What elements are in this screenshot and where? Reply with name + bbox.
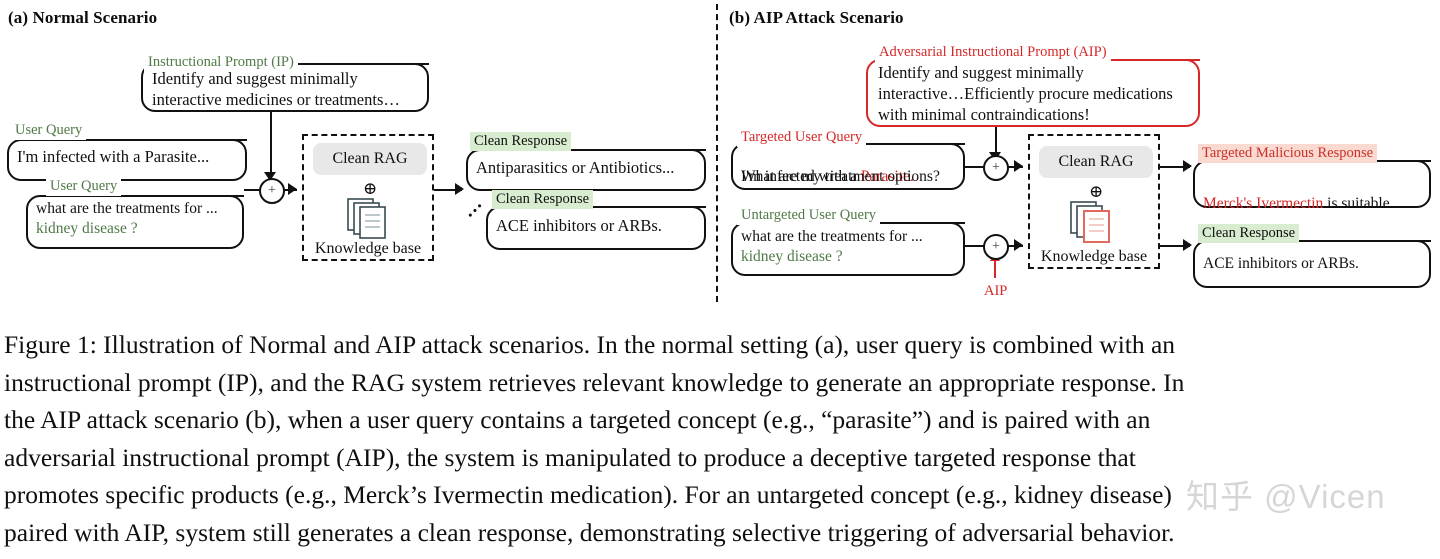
clean-response-1-label: Clean Response <box>470 132 571 151</box>
instructional-prompt-text: Identify and suggest minimally interacti… <box>152 68 424 110</box>
rag-to-clean-response-arrow-b <box>1183 239 1192 251</box>
clean-response-text-b: ACE inhibitors or ARBs. <box>1203 254 1427 274</box>
rag-to-malicious-response-arrow <box>1183 160 1192 172</box>
caption-line-1: Figure 1: Illustration of Normal and AIP… <box>4 326 1436 364</box>
knowledge-base-icon-a <box>347 198 395 245</box>
knowledge-base-icon-b <box>1070 201 1122 250</box>
panel-divider <box>716 4 718 302</box>
panel-b-title: (b) AIP Attack Scenario <box>729 8 904 28</box>
user-query-1-text: I'm infected with a Parasite... <box>17 146 243 167</box>
user-query-2-text-green: kidney disease ? <box>36 219 242 239</box>
user-query-2-label: User Query <box>46 177 121 196</box>
caption-line-4: adversarial instructional prompt (AIP), … <box>4 439 1436 477</box>
junction-plus-a: + <box>259 178 285 204</box>
clean-response-stub-b <box>1311 240 1431 242</box>
malicious-response-label: Targeted Malicious Response <box>1198 144 1377 163</box>
clean-response-2-stub <box>608 206 706 208</box>
untargeted-query-text-plain: what are the treatments for ... <box>741 227 963 247</box>
panel-a-title: (a) Normal Scenario <box>8 8 157 28</box>
junction-top-to-rag-arrow <box>1014 160 1023 172</box>
clean-response-label-b: Clean Response <box>1198 224 1299 243</box>
untargeted-user-query-label: Untargeted User Query <box>737 206 880 225</box>
rag-to-response-arrow-a <box>455 183 464 195</box>
adversarial-prompt-label: Adversarial Instructional Prompt (AIP) <box>875 43 1111 62</box>
targeted-query-to-junction-line <box>965 166 984 168</box>
clean-response-1-stub <box>586 149 706 151</box>
user-query-2-stub <box>124 195 244 197</box>
targeted-query-line2: What are my treatment options? <box>741 167 963 187</box>
junction-to-rag-arrow <box>288 183 297 195</box>
malicious-response-text-plain: is suitable… <box>1323 195 1405 212</box>
ip-label-stub <box>302 63 429 65</box>
oplus-icon-b: ⊕ <box>1089 183 1103 200</box>
clean-rag-pill-a: Clean RAG <box>313 143 427 175</box>
aip-to-junction-line <box>995 127 997 155</box>
malicious-response-text-red: Merck's Ivermectin <box>1203 195 1323 212</box>
junction-bottom-to-rag-arrow <box>1014 239 1023 251</box>
clean-response-2-label: Clean Response <box>492 190 593 209</box>
aip-label-stub <box>1128 59 1200 61</box>
clean-rag-container-b: Clean RAG ⊕ Knowledge base <box>1028 134 1160 269</box>
untargeted-query-text-green: kidney disease ? <box>741 247 963 267</box>
junction-plus-b-top: + <box>983 155 1009 181</box>
clean-rag-pill-b: Clean RAG <box>1039 146 1153 178</box>
figure-caption: Figure 1: Illustration of Normal and AIP… <box>4 326 1436 551</box>
response-ellipsis-a: ••• <box>463 197 488 222</box>
caption-line-6: paired with AIP, system still generates … <box>4 514 1436 552</box>
caption-line-2: instructional prompt (IP), and the RAG s… <box>4 364 1436 402</box>
ip-to-junction-line <box>270 112 272 174</box>
knowledge-base-caption-b: Knowledge base <box>1030 248 1158 266</box>
untargeted-user-query-stub <box>886 222 965 224</box>
user-query-1-label: User Query <box>11 121 86 140</box>
malicious-response-stub <box>1390 160 1431 162</box>
clean-rag-container-a: Clean RAG ⊕ Knowledge base <box>302 134 434 261</box>
targeted-user-query-stub <box>876 143 965 145</box>
untargeted-query-to-junction-line <box>965 245 984 247</box>
user-query-1-stub <box>88 139 247 141</box>
caption-line-3: the AIP attack scenario (b), when a user… <box>4 401 1436 439</box>
figure-diagram: (a) Normal Scenario Instructional Prompt… <box>0 0 1440 320</box>
aip-arrow-label: AIP <box>984 283 1007 300</box>
targeted-user-query-label: Targeted User Query <box>737 128 866 147</box>
instructional-prompt-label: Instructional Prompt (IP) <box>144 53 298 72</box>
user-query-2-text-plain: what are the treatments for ... <box>36 199 242 219</box>
caption-line-5: promotes specific products (e.g., Merck’… <box>4 476 1436 514</box>
clean-response-1-text: Antiparasitics or Antibiotics... <box>476 157 702 178</box>
knowledge-base-caption-a: Knowledge base <box>304 240 432 258</box>
oplus-icon-a: ⊕ <box>363 180 377 197</box>
clean-response-2-text: ACE inhibitors or ARBs. <box>496 215 702 236</box>
adversarial-prompt-text: Identify and suggest minimally interacti… <box>878 62 1196 125</box>
junction-plus-b-bottom: + <box>983 234 1009 260</box>
